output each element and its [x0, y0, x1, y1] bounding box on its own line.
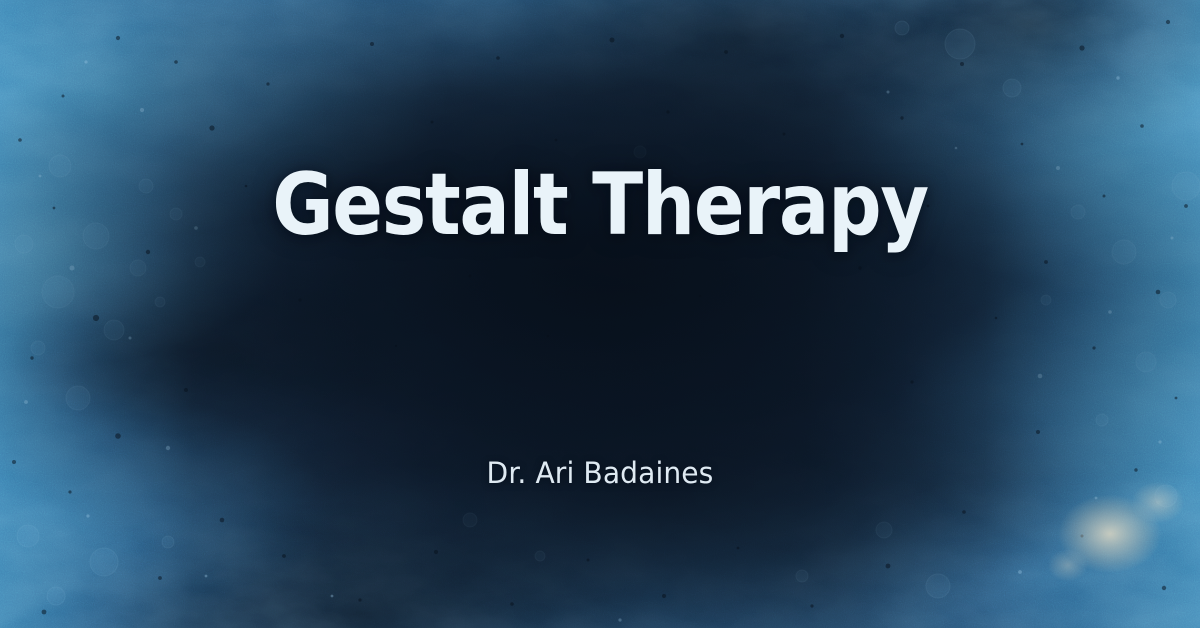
slide-title: Gestalt Therapy — [78, 162, 1122, 248]
slide-content: Gestalt Therapy Dr. Ari Badaines — [0, 0, 1200, 628]
slide-subtitle-author: Dr. Ari Badaines — [18, 458, 1182, 490]
title-slide: Gestalt Therapy Dr. Ari Badaines — [0, 0, 1200, 628]
